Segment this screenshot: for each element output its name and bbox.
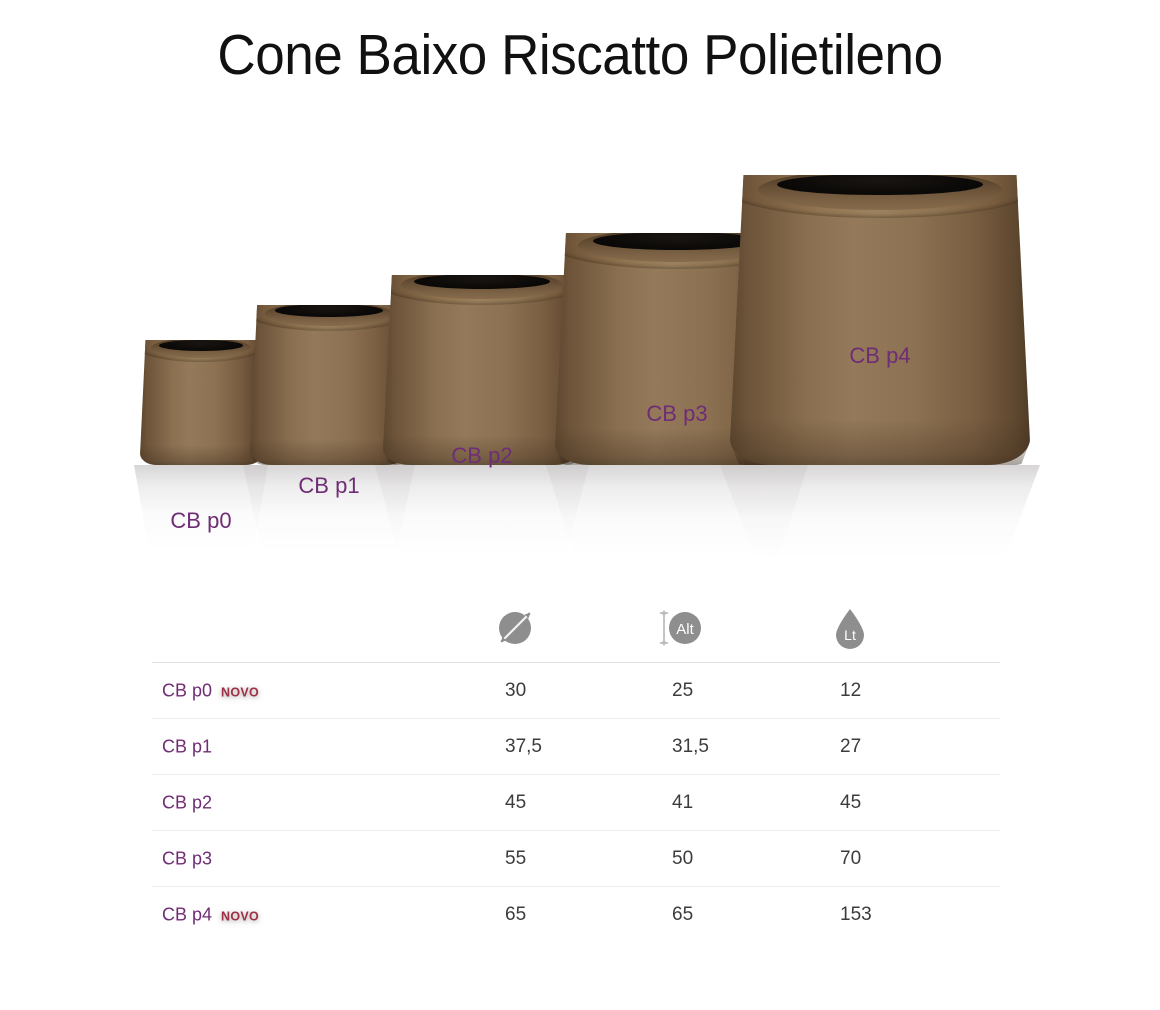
row-model-name: CB p2 bbox=[162, 792, 212, 813]
diameter-icon bbox=[490, 604, 542, 652]
volume-icon-label: Lt bbox=[844, 627, 856, 643]
cell-height: 31,5 bbox=[672, 736, 709, 758]
pot-body bbox=[140, 340, 262, 465]
page-title: Cone Baixo Riscatto Polietileno bbox=[41, 22, 1120, 88]
pot-label-cb-p4: CB p4 bbox=[849, 343, 910, 369]
table-header-row: Alt Lt bbox=[152, 585, 1000, 663]
pot-label-cb-p2: CB p2 bbox=[451, 443, 512, 469]
pot-label-cb-p0: CB p0 bbox=[170, 508, 231, 534]
row-label: CB p2 bbox=[162, 792, 221, 813]
pot-cb-p4: CB p4 bbox=[730, 175, 1030, 465]
column-header-height: Alt bbox=[657, 604, 717, 652]
pot-reflection bbox=[720, 465, 1040, 567]
pot-label-cb-p1: CB p1 bbox=[298, 473, 359, 499]
pot-label-cb-p3: CB p3 bbox=[646, 401, 707, 427]
cell-volume: 12 bbox=[840, 680, 861, 702]
pot-opening bbox=[777, 174, 984, 196]
cell-volume: 153 bbox=[840, 904, 872, 926]
table-row: CB p2 45 41 45 bbox=[152, 775, 1000, 831]
cell-diameter: 37,5 bbox=[505, 736, 542, 758]
cell-height: 65 bbox=[672, 904, 693, 926]
row-label: CB p1 bbox=[162, 736, 221, 757]
height-alt-icon: Alt bbox=[657, 604, 713, 652]
pot-body bbox=[383, 275, 581, 465]
table-row: CB p0 Novo 30 25 12 bbox=[152, 663, 1000, 719]
row-model-name: CB p1 bbox=[162, 736, 212, 757]
cell-diameter: 55 bbox=[505, 848, 526, 870]
product-image: CB p0 CB p1 CB p2 bbox=[120, 155, 1060, 555]
row-model-name: CB p4 bbox=[162, 904, 212, 925]
row-label: CB p0 Novo bbox=[162, 680, 259, 701]
cell-diameter: 65 bbox=[505, 904, 526, 926]
pot-reflection bbox=[546, 465, 808, 565]
cell-diameter: 45 bbox=[505, 792, 526, 814]
table-row: CB p1 37,5 31,5 27 bbox=[152, 719, 1000, 775]
pot-reflection bbox=[375, 465, 589, 563]
cell-height: 50 bbox=[672, 848, 693, 870]
cell-volume: 27 bbox=[840, 736, 861, 758]
row-model-name: CB p0 bbox=[162, 680, 212, 701]
pot-opening bbox=[159, 340, 243, 351]
pot-body bbox=[730, 175, 1030, 465]
row-label: CB p3 bbox=[162, 848, 221, 869]
novo-badge: Novo bbox=[221, 909, 259, 923]
pot-cb-p2: CB p2 bbox=[383, 275, 581, 465]
table-row: CB p4 Novo 65 65 153 bbox=[152, 887, 1000, 942]
height-icon-label: Alt bbox=[676, 621, 694, 638]
cell-height: 25 bbox=[672, 680, 693, 702]
cell-volume: 70 bbox=[840, 848, 861, 870]
pot-rim bbox=[137, 332, 264, 362]
column-header-volume: Lt bbox=[825, 604, 885, 652]
pot-opening bbox=[414, 274, 550, 289]
cell-diameter: 30 bbox=[505, 680, 526, 702]
table-row: CB p3 55 50 70 bbox=[152, 831, 1000, 887]
cell-volume: 45 bbox=[840, 792, 861, 814]
row-label: CB p4 Novo bbox=[162, 904, 259, 925]
pot-rim bbox=[723, 158, 1036, 218]
novo-badge: Novo bbox=[221, 685, 259, 699]
pot-cb-p0: CB p0 bbox=[140, 340, 262, 465]
column-header-diameter bbox=[490, 604, 550, 652]
specifications-table: Alt Lt CB p0 Novo 30 25 12 CB p1 37,5 31… bbox=[152, 585, 1000, 942]
cell-height: 41 bbox=[672, 792, 693, 814]
row-model-name: CB p3 bbox=[162, 848, 212, 869]
volume-lt-icon: Lt bbox=[825, 604, 877, 652]
